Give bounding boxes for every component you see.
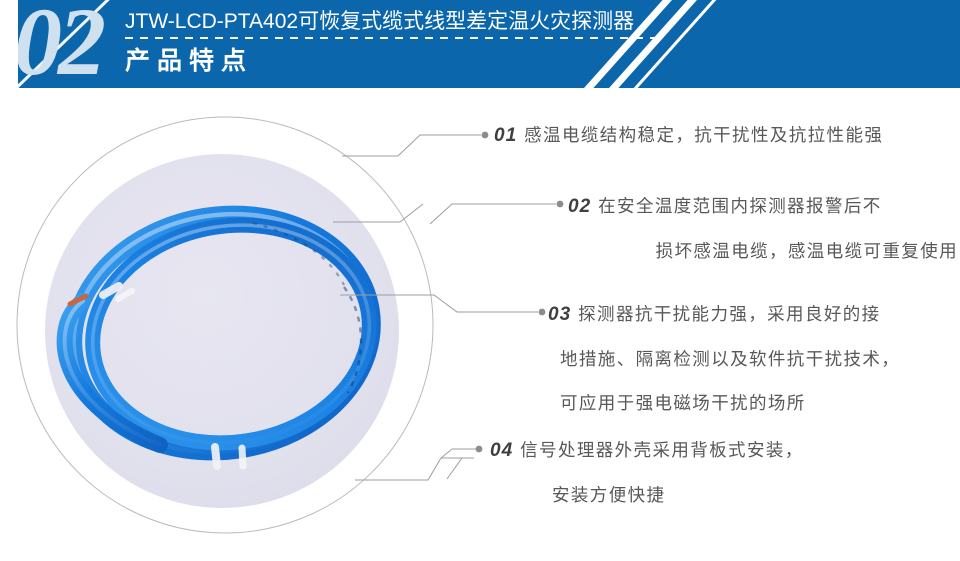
feature-line: 04信号处理器外壳采用背板式安装， — [490, 428, 804, 473]
feature-line: 02在安全温度范围内探测器报警后不 — [568, 184, 958, 229]
feature-line: 01感温电缆结构稳定，抗干扰性及抗拉性能强 — [494, 113, 883, 158]
feature-line: 安装方便快捷 — [490, 473, 804, 517]
feature-number: 03 — [548, 304, 578, 325]
feature-text: 信号处理器外壳采用背板式安装， — [520, 440, 804, 460]
feature-item-04: 04信号处理器外壳采用背板式安装， 安装方便快捷 — [490, 428, 804, 517]
feature-list: 01感温电缆结构稳定，抗干扰性及抗拉性能强 02在安全温度范围内探测器报警后不 … — [0, 0, 960, 561]
feature-text: 探测器抗干扰能力强，采用良好的接 — [578, 304, 880, 324]
feature-line: 地措施、隔离检测以及软件抗干扰技术， — [548, 337, 900, 381]
feature-number: 04 — [490, 440, 520, 461]
feature-item-01: 01感温电缆结构稳定，抗干扰性及抗拉性能强 — [494, 113, 883, 158]
feature-line: 可应用于强电磁场干扰的场所 — [548, 381, 900, 425]
feature-text: 在安全温度范围内探测器报警后不 — [598, 196, 882, 216]
feature-item-02: 02在安全温度范围内探测器报警后不 损坏感温电缆，感温电缆可重复使用 — [568, 184, 958, 273]
feature-number: 01 — [494, 125, 524, 146]
feature-line: 03探测器抗干扰能力强，采用良好的接 — [548, 292, 900, 337]
feature-line: 损坏感温电缆，感温电缆可重复使用 — [568, 229, 958, 273]
feature-number: 02 — [568, 196, 598, 217]
feature-text: 感温电缆结构稳定，抗干扰性及抗拉性能强 — [524, 125, 883, 145]
feature-item-03: 03探测器抗干扰能力强，采用良好的接 地措施、隔离检测以及软件抗干扰技术， 可应… — [548, 292, 900, 425]
page-root: 02 JTW-LCD-PTA402可恢复式缆式线型差定温火灾探测器 产品特点 — [0, 0, 960, 561]
